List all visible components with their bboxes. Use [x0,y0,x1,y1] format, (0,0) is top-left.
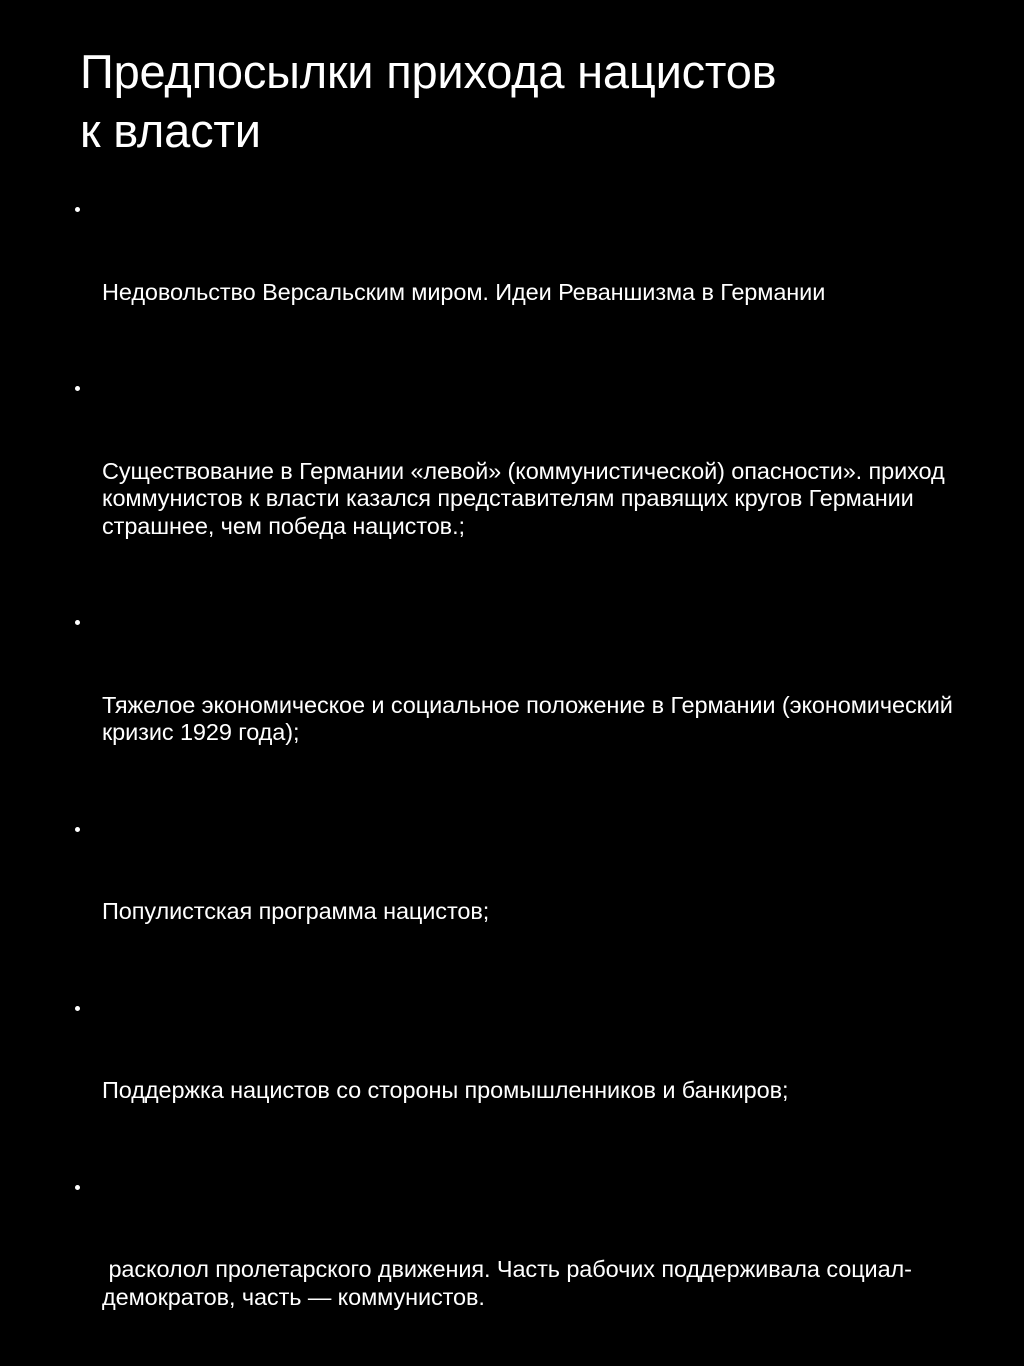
list-item: расколол пролетарского движения. Часть р… [70,1174,955,1366]
list-item-text: Существование в Германии «левой» (коммун… [102,458,955,541]
list-item: Тяжелое экономическое и социальное полож… [70,609,955,802]
list-item-text: Поддержка нацистов со стороны промышленн… [102,1077,955,1105]
list-item-text: Популистская программа нацистов; [102,898,955,926]
list-item: Недовольство Версальским миром. Идеи Рев… [70,196,955,361]
bullet-dot-icon [75,827,80,832]
list-item-text: Недовольство Версальским миром. Идеи Рев… [102,279,955,307]
list-item-text: Тяжелое экономическое и социальное полож… [102,692,955,747]
list-item: Популистская программа нацистов; [70,816,955,981]
list-item-text: расколол пролетарского движения. Часть р… [102,1256,955,1311]
bullet-dot-icon [75,620,80,625]
presentation-slide: Предпосылки прихода нацистов к власти Не… [0,0,1024,767]
bullet-dot-icon [75,207,80,212]
list-item: Поддержка нацистов со стороны промышленн… [70,995,955,1160]
bullet-dot-icon [75,386,80,391]
bullet-dot-icon [75,1006,80,1011]
bullet-dot-icon [75,1185,80,1190]
list-item: Существование в Германии «левой» (коммун… [70,375,955,595]
bullet-list: Недовольство Версальским миром. Идеи Рев… [70,196,955,1366]
page-title: Предпосылки прихода нацистов к власти [80,42,780,160]
